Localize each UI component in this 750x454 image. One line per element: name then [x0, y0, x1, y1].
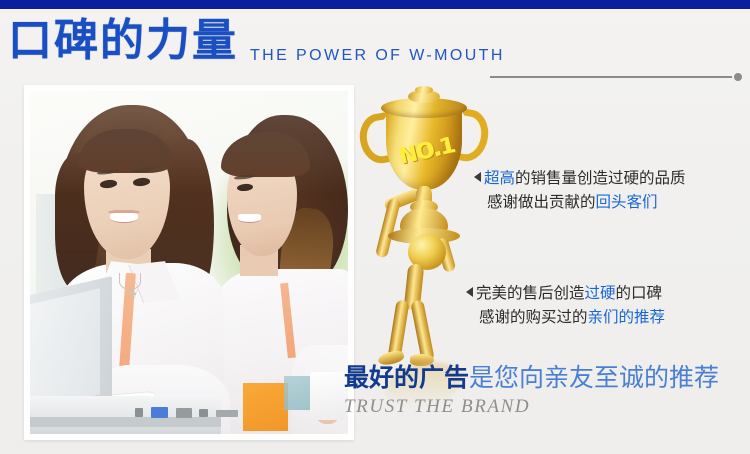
promo-banner: 口碑的力量 THE POWER OF W-MOUTH [0, 0, 750, 454]
photo-frame [24, 85, 354, 440]
callout-text-post: 的口碑 [616, 281, 663, 305]
tagline-remainder: 是您向亲友至诚的推荐 [469, 363, 719, 392]
header-divider [490, 73, 742, 81]
callout-line: 完美的售后创造 过硬 的口碑 [466, 281, 742, 305]
photo-overlay [30, 91, 348, 434]
callout-text-pre: 感谢做出贡献的 [487, 190, 596, 214]
tagline-chinese: 最好的广告是您向亲友至诚的推荐 [344, 364, 719, 393]
page-title: 口碑的力量 [8, 19, 238, 63]
callout-text-pre: 感谢的购买过的 [479, 305, 588, 329]
divider-line [490, 76, 732, 78]
left-triangle-icon [466, 287, 473, 297]
callout-text-highlight: 亲们的推荐 [588, 305, 666, 329]
top-accent-bar [0, 0, 750, 9]
callout-text-post: 的销售量创造过硬的品质 [515, 166, 686, 190]
tagline-block: 最好的广告是您向亲友至诚的推荐 TRUST THE BRAND [344, 364, 719, 418]
callout-text-highlight: 回头客们 [596, 190, 658, 214]
divider-dot [734, 73, 742, 81]
callout-text-highlight: 超高 [484, 166, 515, 190]
callout-text-highlight: 过硬 [585, 281, 616, 305]
figure-arm-left [375, 197, 401, 258]
callout-service: 完美的售后创造 过硬 的口碑 感谢的购买过的 亲们的推荐 [466, 281, 742, 329]
callout-line: 感谢做出贡献的 回头客们 [474, 190, 742, 214]
team-photo [30, 91, 348, 434]
left-triangle-icon [474, 172, 481, 182]
page-subtitle: THE POWER OF W-MOUTH [250, 47, 505, 65]
tagline-emphasis: 最好的广告 [344, 363, 469, 392]
callout-text-pre: 完美的售后创造 [476, 281, 585, 305]
callout-line: 感谢的购买过的 亲们的推荐 [466, 305, 742, 329]
tagline-english: TRUST THE BRAND [344, 396, 719, 418]
trophy-knob-top [415, 86, 433, 94]
trophy-illustration: NO.1 [352, 88, 502, 388]
callout-line: 超高 的销售量创造过硬的品质 [474, 166, 742, 190]
banner-header: 口碑的力量 THE POWER OF W-MOUTH [0, 9, 750, 79]
callout-quality: 超高 的销售量创造过硬的品质 感谢做出贡献的 回头客们 [474, 166, 742, 214]
